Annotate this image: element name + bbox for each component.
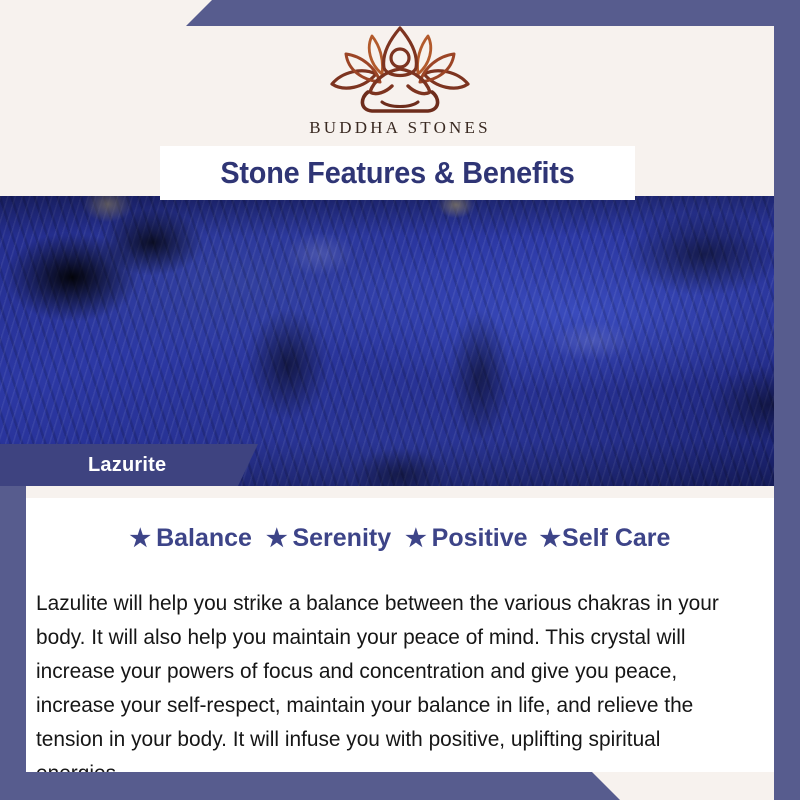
frame-left-border (0, 486, 26, 800)
content-top-strip (26, 486, 774, 498)
benefit-item-balance: ★ Balance (130, 524, 252, 553)
stone-info-poster: BUDDHA STONES Stone Features & Benefits … (0, 0, 800, 800)
brand-wordmark: BUDDHA STONES (0, 118, 800, 138)
stone-name-label: Lazurite (0, 454, 166, 477)
star-icon: ★ (540, 527, 562, 551)
content-panel: ★ Balance ★ Serenity ★ Positive ★ Self C… (26, 486, 774, 772)
page-title-banner: Stone Features & Benefits (160, 146, 635, 200)
stone-texture-vignette (0, 196, 800, 486)
benefit-label: Self Care (562, 524, 670, 553)
star-icon: ★ (266, 527, 288, 551)
benefit-item-self-care: ★ Self Care (540, 524, 671, 553)
frame-right-border (774, 0, 800, 800)
star-icon: ★ (130, 527, 152, 551)
brand-logo: BUDDHA STONES (0, 22, 800, 138)
benefit-label: Balance (156, 524, 252, 553)
benefit-label: Serenity (292, 524, 391, 553)
stone-name-badge: Lazurite (0, 444, 258, 486)
lotus-meditation-icon (312, 22, 488, 114)
benefits-list: ★ Balance ★ Serenity ★ Positive ★ Self C… (26, 524, 774, 553)
benefit-item-positive: ★ Positive (405, 524, 527, 553)
benefit-label: Positive (432, 524, 528, 553)
page-title: Stone Features & Benefits (220, 155, 574, 191)
stone-description: Lazulite will help you strike a balance … (36, 586, 736, 790)
benefit-item-serenity: ★ Serenity (266, 524, 391, 553)
star-icon: ★ (405, 527, 427, 551)
stone-photo (0, 196, 800, 486)
